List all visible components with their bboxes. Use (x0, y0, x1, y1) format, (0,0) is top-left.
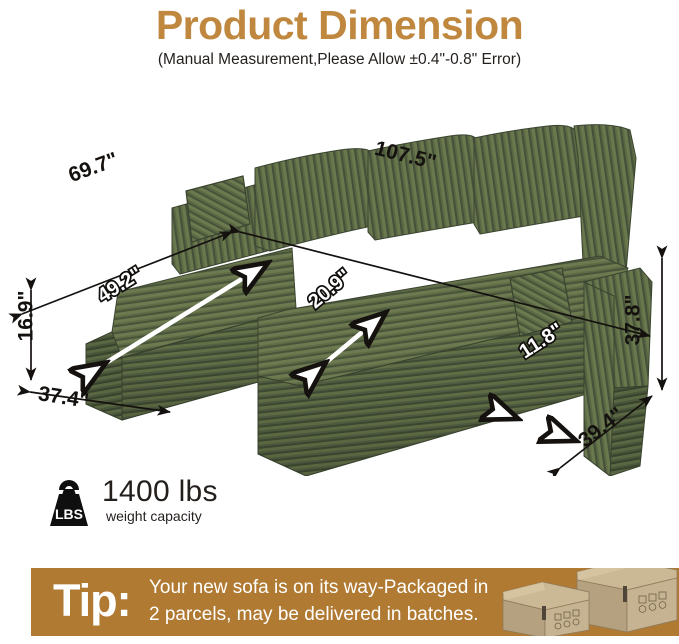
chaise-left-side (86, 332, 122, 420)
tip-message-line-1: Your new sofa is on its way-Packaged in (149, 575, 539, 602)
parcel-box-front (503, 582, 589, 636)
tip-banner: Tip: Your new sofa is on its way-Package… (31, 568, 679, 636)
dimension-label-16-9: 16.9" (14, 291, 38, 342)
parcel-box-back (577, 568, 677, 632)
parcel-boxes-icon (499, 568, 679, 636)
measurement-disclaimer: (Manual Measurement,Please Allow ±0.4"-0… (0, 50, 679, 70)
tip-label: Tip: (53, 572, 131, 630)
dimension-line-11-8 (516, 418, 574, 440)
weight-capacity-value: 1400 lbs (102, 475, 218, 509)
weight-capacity-caption: weight capacity (106, 508, 202, 524)
dimension-label-37-8: 37.8" (621, 295, 645, 346)
back-cushion-3 (474, 125, 584, 234)
back-cushion-1 (255, 149, 372, 251)
weight-icon-label: LBS (55, 506, 83, 522)
tip-message: Your new sofa is on its way-Packaged in … (149, 575, 539, 628)
weight-capacity-block: LBS 1400 lbs weight capacity (42, 478, 302, 538)
sofa-illustration: 69.7" 107.5" 16.9" 37.4" 37.8" 39.4" 49.… (0, 96, 679, 476)
tip-message-line-2: 2 parcels, may be delivered in batches. (149, 602, 539, 629)
weight-icon: LBS (42, 478, 96, 530)
product-dimension-infographic: Product Dimension (Manual Measurement,Pl… (0, 0, 679, 644)
page-title: Product Dimension (0, 2, 679, 48)
